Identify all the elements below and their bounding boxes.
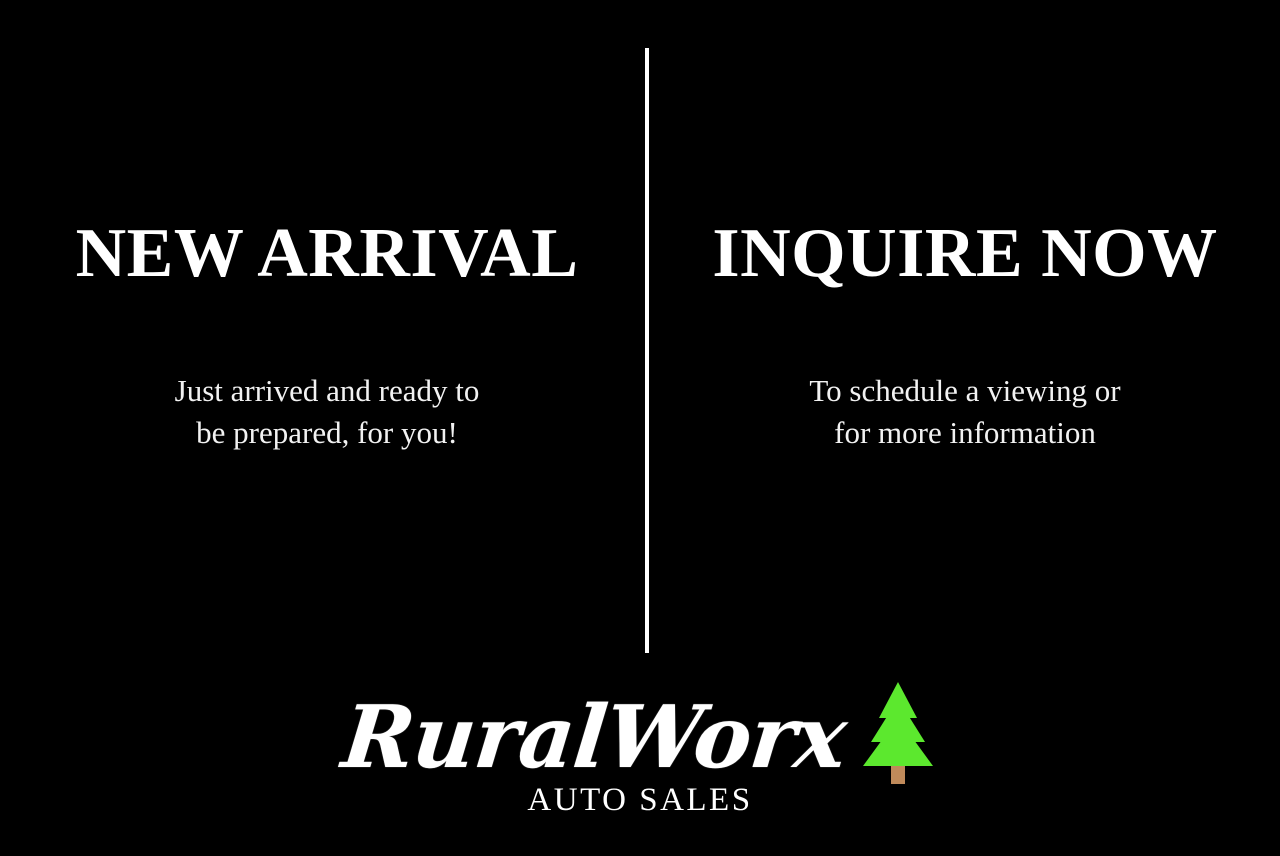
logo-tagline: AUTO SALES — [0, 780, 1280, 820]
panel-left-body-line-1: Just arrived and ready to — [47, 370, 607, 412]
panel-right-body: To schedule a viewing or for more inform… — [685, 294, 1245, 454]
panel-right-body-line-2: for more information — [685, 412, 1245, 454]
panel-right-heading: INQUIRE NOW — [685, 214, 1245, 294]
panel-new-arrival: NEW ARRIVAL Just arrived and ready to be… — [47, 214, 607, 454]
panel-left-heading: NEW ARRIVAL — [47, 214, 607, 294]
logo-wordmark-row: RuralWorx — [0, 668, 1280, 786]
panel-inquire-now: INQUIRE NOW To schedule a viewing or for… — [685, 214, 1245, 454]
logo-wordmark: RuralWorx — [338, 690, 850, 786]
pine-tree-icon — [859, 680, 937, 784]
panel-left-body-line-2: be prepared, for you! — [47, 412, 607, 454]
vertical-divider — [645, 48, 649, 653]
brand-logo: RuralWorx AUTO SALES — [0, 668, 1280, 828]
slide-canvas: NEW ARRIVAL Just arrived and ready to be… — [0, 0, 1280, 856]
panel-left-body: Just arrived and ready to be prepared, f… — [47, 294, 607, 454]
panel-right-body-line-1: To schedule a viewing or — [685, 370, 1245, 412]
